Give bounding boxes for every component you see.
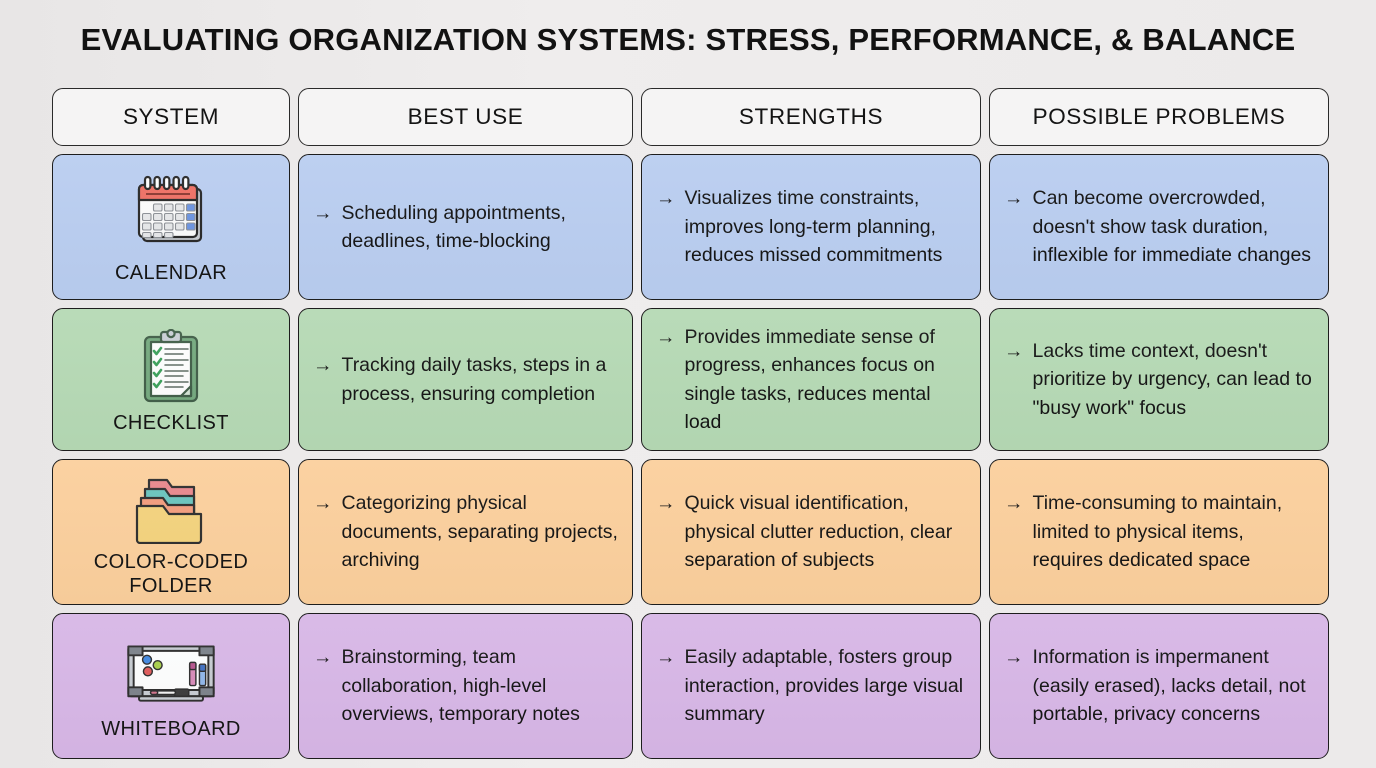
folder-stack-icon (123, 468, 219, 548)
problems-cell: → Lacks time context, doesn't prioritize… (989, 308, 1329, 451)
system-cell-color-coded-folder: COLOR-CODED FOLDER (52, 459, 290, 605)
arrow-icon: → (1004, 184, 1024, 213)
strengths-text: Visualizes time constraints, improves lo… (685, 184, 969, 270)
problems-text: Information is impermanent (easily erase… (1033, 643, 1317, 729)
best-use-cell: → Tracking daily tasks, steps in a proce… (298, 308, 633, 451)
clipboard-checklist-icon (123, 327, 219, 409)
problems-cell: → Time-consuming to maintain, limited to… (989, 459, 1329, 605)
problems-text: Can become overcrowded, doesn't show tas… (1033, 184, 1317, 270)
strengths-cell: → Provides immediate sense of progress, … (641, 308, 981, 451)
column-header-possible-problems: POSSIBLE PROBLEMS (989, 88, 1329, 146)
table-row: CALENDAR → Scheduling appointments, dead… (52, 154, 1325, 300)
arrow-icon: → (313, 199, 333, 228)
table-row: CHECKLIST → Tracking daily tasks, steps … (52, 308, 1325, 451)
comparison-table: SYSTEM BEST USE STRENGTHS POSSIBLE PROBL… (52, 88, 1325, 759)
column-header-system: SYSTEM (52, 88, 290, 146)
best-use-text: Scheduling appointments, deadlines, time… (342, 199, 621, 256)
arrow-icon: → (313, 351, 333, 380)
calendar-icon (123, 171, 219, 259)
strengths-cell: → Quick visual identification, physical … (641, 459, 981, 605)
problems-text: Lacks time context, doesn't prioritize b… (1033, 337, 1317, 423)
strengths-text: Easily adaptable, fosters group interact… (685, 643, 969, 729)
best-use-cell: → Scheduling appointments, deadlines, ti… (298, 154, 633, 300)
system-label: COLOR-CODED FOLDER (59, 550, 283, 598)
system-cell-calendar: CALENDAR (52, 154, 290, 300)
infographic-table-page: EVALUATING ORGANIZATION SYSTEMS: STRESS,… (0, 0, 1376, 768)
best-use-text: Categorizing physical documents, separat… (342, 489, 621, 575)
table-row: WHITEBOARD → Brainstorming, team collabo… (52, 613, 1325, 759)
column-header-strengths: STRENGTHS (641, 88, 981, 146)
best-use-text: Brainstorming, team collaboration, high-… (342, 643, 621, 729)
arrow-icon: → (313, 489, 333, 518)
system-label: WHITEBOARD (101, 717, 241, 741)
arrow-icon: → (656, 643, 676, 672)
arrow-icon: → (656, 323, 676, 352)
strengths-cell: → Visualizes time constraints, improves … (641, 154, 981, 300)
arrow-icon: → (313, 643, 333, 672)
table-header-row: SYSTEM BEST USE STRENGTHS POSSIBLE PROBL… (52, 88, 1325, 146)
problems-cell: → Information is impermanent (easily era… (989, 613, 1329, 759)
strengths-text: Quick visual identification, physical cl… (685, 489, 969, 575)
strengths-cell: → Easily adaptable, fosters group intera… (641, 613, 981, 759)
strengths-text: Provides immediate sense of progress, en… (685, 323, 969, 437)
system-label: CALENDAR (115, 261, 227, 285)
arrow-icon: → (1004, 337, 1024, 366)
system-cell-checklist: CHECKLIST (52, 308, 290, 451)
system-label: CHECKLIST (113, 411, 229, 435)
best-use-cell: → Brainstorming, team collaboration, hig… (298, 613, 633, 759)
arrow-icon: → (656, 489, 676, 518)
arrow-icon: → (1004, 489, 1024, 518)
table-row: COLOR-CODED FOLDER → Categorizing physic… (52, 459, 1325, 605)
problems-text: Time-consuming to maintain, limited to p… (1033, 489, 1317, 575)
whiteboard-icon (123, 633, 219, 715)
best-use-text: Tracking daily tasks, steps in a process… (342, 351, 621, 408)
problems-cell: → Can become overcrowded, doesn't show t… (989, 154, 1329, 300)
system-cell-whiteboard: WHITEBOARD (52, 613, 290, 759)
page-title: EVALUATING ORGANIZATION SYSTEMS: STRESS,… (0, 22, 1376, 58)
arrow-icon: → (1004, 643, 1024, 672)
column-header-best-use: BEST USE (298, 88, 633, 146)
arrow-icon: → (656, 184, 676, 213)
best-use-cell: → Categorizing physical documents, separ… (298, 459, 633, 605)
